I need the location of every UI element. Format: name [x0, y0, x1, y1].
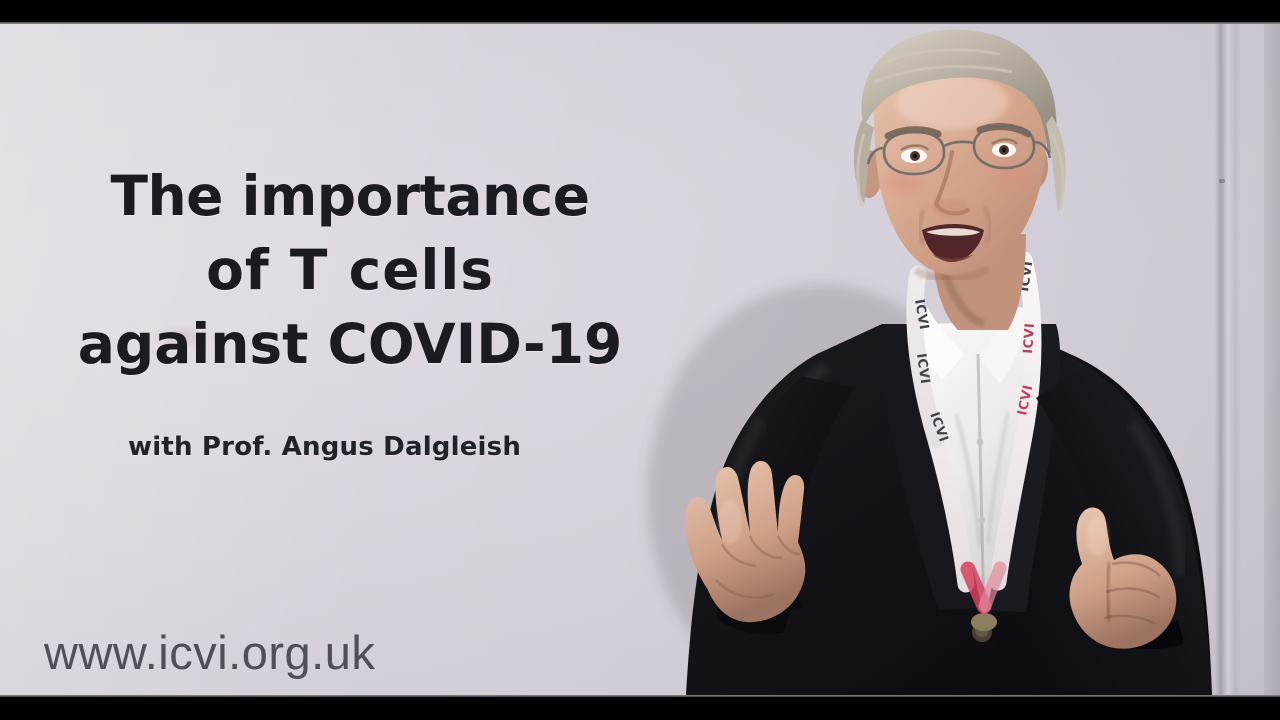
- title-line-2: of T cells: [0, 233, 700, 307]
- head: [854, 30, 1066, 279]
- cheek-left: [876, 162, 932, 202]
- slide-subtitle: with Prof. Angus Dalgleish: [128, 432, 521, 462]
- website-url: www.icvi.org.uk: [44, 625, 375, 680]
- video-frame: The importance of T cells against COVID-…: [0, 0, 1280, 720]
- title-line-3: against COVID-19: [0, 307, 700, 381]
- lanyard-badge-clip: [971, 613, 997, 631]
- speaker-figure: ICVI ICVI ICVI ICVI ICVI ICVI: [612, 24, 1280, 695]
- title-line-1: The importance: [0, 159, 700, 233]
- letterbox-bar-bottom: [0, 695, 1280, 720]
- letterbox-bar-top: [0, 0, 1280, 24]
- video-scene: The importance of T cells against COVID-…: [0, 24, 1280, 695]
- slide-title-block: The importance of T cells against COVID-…: [0, 159, 700, 381]
- svg-text:ICVI: ICVI: [1021, 322, 1038, 354]
